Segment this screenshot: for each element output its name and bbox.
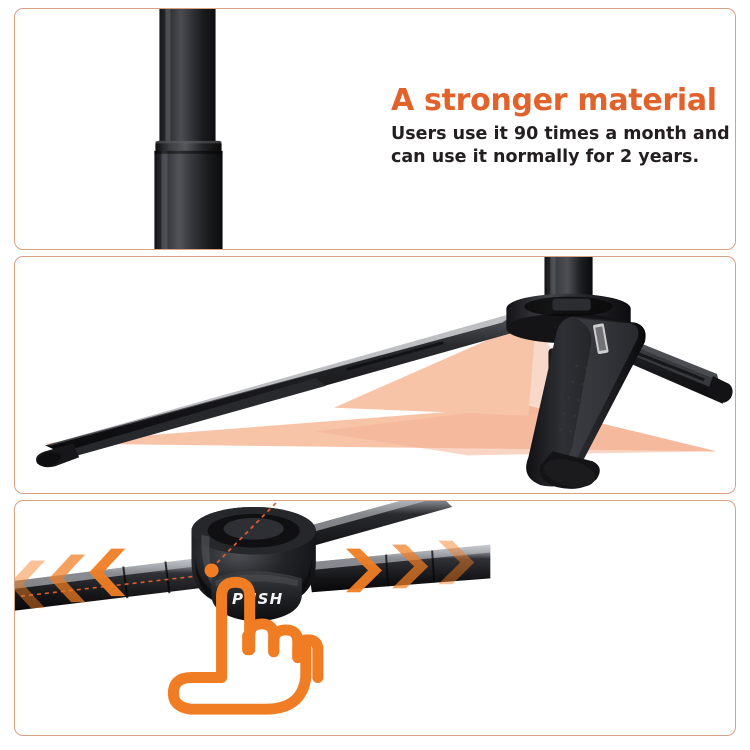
panel-1-text-block: A stronger material Users use it 90 time… [391, 85, 730, 168]
tripod-open-artwork [15, 257, 735, 493]
feature-panel-umbrella-frame: Umbrella frame structure The three legs … [14, 256, 736, 494]
tripod-arm-left [15, 557, 216, 613]
infographic-page: A stronger material Users use it 90 time… [0, 0, 750, 750]
panel-1-body: Users use it 90 times a month and can us… [391, 123, 730, 167]
feature-panel-click-to-open: PUSH [14, 500, 736, 736]
panel-1-heading: A stronger material [391, 85, 730, 117]
hinge-marker-dot [205, 563, 219, 577]
tripod-hub-artwork: PUSH [15, 501, 735, 735]
feature-panel-stronger-material: A stronger material Users use it 90 time… [14, 8, 736, 250]
push-button-label: PUSH [232, 590, 283, 608]
